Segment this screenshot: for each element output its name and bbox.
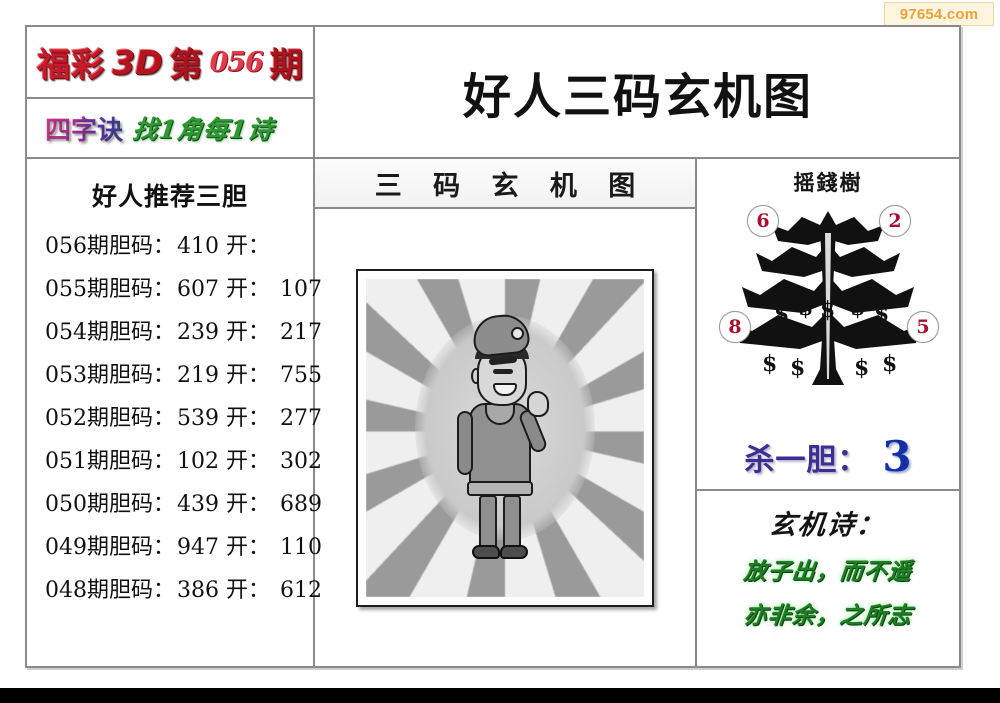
lucky-number-1: 6 xyxy=(747,205,779,237)
poem-line-1: 放子出，而不遥 xyxy=(695,552,961,586)
row-code: 219 xyxy=(177,354,219,397)
brand-3d: 3D xyxy=(112,43,162,82)
list-item: 049 期胆码： 947 开： 110 xyxy=(27,526,313,569)
row-kai-label: 开： xyxy=(226,225,270,268)
row-issue: 053 xyxy=(45,354,87,397)
row-kai-label: 开： xyxy=(226,354,270,397)
money-tree-graphic-wrap: $ $ $ $ $ $ $ $ $ 6 xyxy=(697,199,959,405)
row-code: 439 xyxy=(177,483,219,526)
figure-eye xyxy=(493,369,513,374)
figure-left-arm xyxy=(457,411,473,475)
row-label: 期胆码： xyxy=(87,225,175,268)
row-code: 410 xyxy=(177,225,219,268)
row-kai-label: 开： xyxy=(226,268,270,311)
svg-text:$: $ xyxy=(820,297,835,323)
lucky-number-4: 5 xyxy=(907,311,939,343)
row-label: 期胆码： xyxy=(87,483,175,526)
brand-qi: 期 xyxy=(270,38,303,86)
svg-text:$: $ xyxy=(874,301,889,327)
row-kai-label: 开： xyxy=(226,526,270,569)
row-issue: 050 xyxy=(45,483,87,526)
recommendation-list: 056 期胆码： 410 开： 055 期胆码： 607 开： 107 xyxy=(27,219,313,612)
svg-text:$: $ xyxy=(850,295,865,321)
kill-number-row: 杀一胆： 3 xyxy=(697,432,959,481)
poster-frame: 福彩 3D 第 056 期 四字诀 找1角每1诗 好人三码玄机图 好人推荐三胆 … xyxy=(25,25,961,668)
figure-right-shoe xyxy=(500,545,528,559)
svg-text:$: $ xyxy=(790,355,805,381)
center-panel-heading: 三 码 玄 机 图 xyxy=(315,159,695,209)
center-heading-text: 三 码 玄 机 图 xyxy=(364,164,647,203)
subtitle-row: 四字诀 找1角每1诗 xyxy=(27,99,331,157)
row-label: 期胆码： xyxy=(87,526,175,569)
figure-left-leg xyxy=(479,495,497,549)
body-row: 好人推荐三胆 056 期胆码： 410 开： 055 期胆码： 607 开： xyxy=(27,157,959,666)
row-code: 539 xyxy=(177,397,219,440)
watermark-text: 97654.com xyxy=(900,6,979,23)
row-issue: 052 xyxy=(45,397,87,440)
svg-text:$: $ xyxy=(798,295,813,321)
brand-di: 第 xyxy=(169,38,202,86)
row-label: 期胆码： xyxy=(87,354,175,397)
row-issue: 056 xyxy=(45,225,87,268)
figure-right-leg xyxy=(503,495,521,549)
cartoon-illustration xyxy=(366,279,644,597)
row-issue: 054 xyxy=(45,311,87,354)
subtitle-badge: 四字诀 xyxy=(45,110,123,147)
row-kai-label: 开： xyxy=(226,483,270,526)
watermark-badge: 97654.com xyxy=(884,2,994,26)
svg-text:$: $ xyxy=(854,355,869,381)
row-kai-label: 开： xyxy=(226,569,270,612)
cartoon-picture-frame xyxy=(356,269,654,607)
money-tree-title: 摇錢樹 xyxy=(697,159,959,197)
lucky-number-3: 8 xyxy=(719,311,751,343)
page-title: 好人三码玄机图 xyxy=(463,57,813,127)
row-label: 期胆码： xyxy=(87,268,175,311)
issue-number: 056 xyxy=(209,47,262,78)
left-column: 好人推荐三胆 056 期胆码： 410 开： 055 期胆码： 607 开： xyxy=(27,159,315,666)
row-code: 239 xyxy=(177,311,219,354)
money-tree-panel: 摇錢樹 $ xyxy=(697,159,959,491)
lucky-number-2: 2 xyxy=(879,205,911,237)
row-kai-label: 开： xyxy=(226,397,270,440)
row-issue: 048 xyxy=(45,569,87,612)
list-item: 055 期胆码： 607 开： 107 xyxy=(27,268,313,311)
svg-text:$: $ xyxy=(882,351,897,377)
left-panel-title: 好人推荐三胆 xyxy=(27,177,313,213)
row-issue: 051 xyxy=(45,440,87,483)
list-item: 056 期胆码： 410 开： xyxy=(27,225,313,268)
row-code: 607 xyxy=(177,268,219,311)
poem-panel: 玄机诗： 放子出，而不遥 亦非余，之所志 xyxy=(697,491,959,666)
row-label: 期胆码： xyxy=(87,397,175,440)
svg-text:$: $ xyxy=(762,351,777,377)
list-item: 054 期胆码： 239 开： 217 xyxy=(27,311,313,354)
poem-line-2: 亦非余，之所志 xyxy=(695,596,961,630)
header-main-title-block: 好人三码玄机图 xyxy=(315,27,961,157)
cartoon-figure xyxy=(445,313,565,563)
list-item: 052 期胆码： 539 开： 277 xyxy=(27,397,313,440)
list-item: 053 期胆码： 219 开： 755 xyxy=(27,354,313,397)
list-item: 048 期胆码： 386 开： 612 xyxy=(27,569,313,612)
row-label: 期胆码： xyxy=(87,569,175,612)
row-label: 期胆码： xyxy=(87,311,175,354)
kill-number-label: 杀一胆： xyxy=(744,435,868,479)
subtitle-calligraphy: 找1角每1诗 xyxy=(131,110,276,146)
list-item: 051 期胆码： 102 开： 302 xyxy=(27,440,313,483)
row-code: 386 xyxy=(177,569,219,612)
figure-hand xyxy=(527,391,549,417)
header-left-block: 福彩 3D 第 056 期 四字诀 找1角每1诗 xyxy=(27,27,315,157)
poster-page: 97654.com 福彩 3D 第 056 期 四字诀 找1角每1诗 好人三码玄… xyxy=(0,0,1000,703)
center-column: 三 码 玄 机 图 xyxy=(315,159,697,666)
figure-left-shoe xyxy=(472,545,500,559)
row-kai-label: 开： xyxy=(226,311,270,354)
row-issue: 055 xyxy=(45,268,87,311)
list-item: 050 期胆码： 439 开： 689 xyxy=(27,483,313,526)
figure-hem xyxy=(467,481,533,496)
brand-row: 福彩 3D 第 056 期 xyxy=(27,27,313,99)
brand-fucai: 福彩 xyxy=(37,38,105,86)
poem-title: 玄机诗： xyxy=(694,491,961,542)
row-code: 102 xyxy=(177,440,219,483)
center-panel-body xyxy=(315,209,695,666)
row-issue: 049 xyxy=(45,526,87,569)
bottom-black-bar xyxy=(0,688,1000,703)
svg-text:$: $ xyxy=(774,301,789,327)
row-code: 947 xyxy=(177,526,219,569)
right-column: 摇錢樹 $ xyxy=(697,159,959,666)
row-kai-label: 开： xyxy=(226,440,270,483)
row-label: 期胆码： xyxy=(87,440,175,483)
kill-number-value: 3 xyxy=(882,432,911,481)
